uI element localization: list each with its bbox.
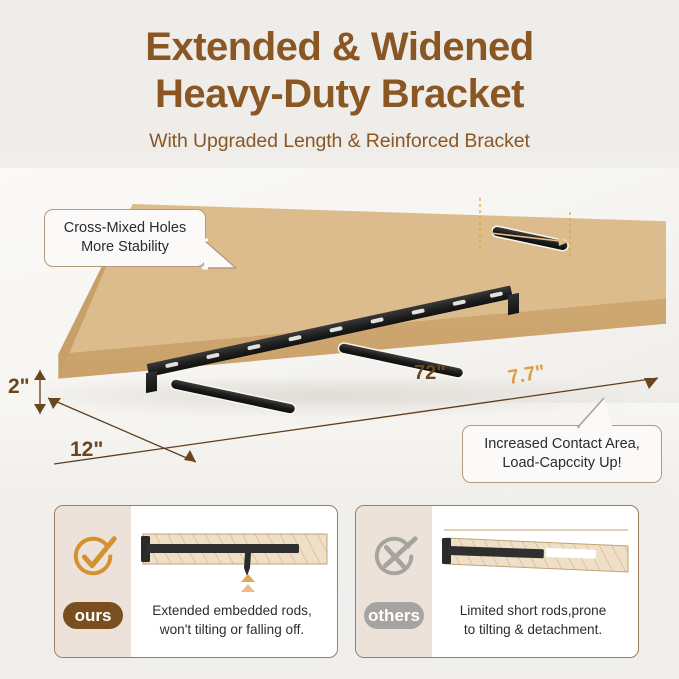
dimension-length: 72" [414,362,446,385]
callout-left-line2: More Stability [57,238,193,257]
callout-left-line1: Cross-Mixed Holes [57,219,193,238]
badge-ours: ours [63,602,123,629]
depth-measure [36,386,216,474]
badge-others: others [364,602,424,629]
callout-left-tail [202,238,242,272]
page-title-line1: Extended & Widened [0,24,679,71]
panel-ours-caption: Extended embedded rods, won't tilting or… [133,602,331,640]
page-title-line2: Heavy-Duty Bracket [0,71,679,118]
bracket-foot-right [508,293,519,315]
panel-ours-caption-line2: won't tilting or falling off. [133,621,331,640]
dimension-thickness: 2" [8,375,30,399]
panel-ours-caption-line1: Extended embedded rods, [133,602,331,621]
panel-ours-left-column [55,506,131,657]
callout-right-tail [568,396,616,430]
comparison-panel-others: others Limited short rods,prone to tilti… [355,505,639,658]
panel-others-caption-line1: Limited short rods,prone [434,602,632,621]
callout-right-line1: Increased Contact Area, [475,435,649,454]
callout-right-line2: Load-Capccity Up! [475,454,649,473]
dimension-depth: 12" [70,438,103,462]
infographic-canvas: Extended & Widened Heavy-Duty Bracket Wi… [0,0,679,679]
check-circle-icon [71,534,117,580]
panel-others-left-column [356,506,432,657]
comparison-panel-ours: ours Extended embedded rods, won't tilti… [54,505,338,658]
panel-others-caption: Limited short rods,prone to tilting & de… [434,602,632,640]
thickness-measure [28,364,58,434]
bracket-width-measure [470,192,590,264]
panel-others-caption-line2: to tilting & detachment. [434,621,632,640]
callout-cross-mixed-holes: Cross-Mixed Holes More Stability [44,209,206,267]
x-circle-icon [372,534,418,580]
diagram-others-short-rod [438,524,634,596]
page-subtitle: With Upgraded Length & Reinforced Bracke… [0,130,679,153]
diagram-ours-embedded-rod [137,524,333,596]
header: Extended & Widened Heavy-Duty Bracket Wi… [0,24,679,153]
callout-increased-contact-area: Increased Contact Area, Load-Capccity Up… [462,425,662,483]
